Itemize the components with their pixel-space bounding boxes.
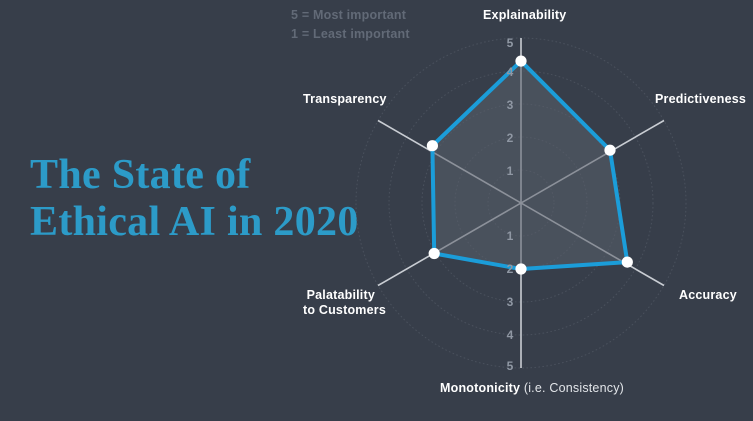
data-point-accuracy [622, 257, 633, 268]
axis-label-predictiveness: Predictiveness [655, 92, 746, 107]
data-point-palatability [429, 248, 440, 259]
tick-down-1: 1 [507, 229, 514, 243]
axis-label-transparency: Transparency [303, 92, 387, 107]
axis-label-monotonicity-main: Monotonicity [440, 381, 520, 395]
tick-down-5: 5 [507, 359, 514, 373]
tick-up-2: 2 [507, 131, 514, 145]
radar-chart-svg: 5 4 3 2 1 1 2 3 4 5 [0, 0, 753, 421]
radar-chart: 5 4 3 2 1 1 2 3 4 5 [0, 0, 753, 421]
tick-down-4: 4 [507, 328, 514, 342]
tick-up-3: 3 [507, 98, 514, 112]
tick-down-3: 3 [507, 295, 514, 309]
data-point-transparency [427, 140, 438, 151]
data-point-monotonicity [515, 263, 526, 274]
data-point-predictiveness [604, 145, 615, 156]
axis-label-accuracy: Accuracy [679, 288, 737, 303]
axis-label-palatability: Palatability to Customers [303, 288, 375, 318]
tick-up-5: 5 [507, 36, 514, 50]
slide-canvas: 5 = Most important 1 = Least important T… [0, 0, 753, 421]
tick-up-1: 1 [507, 164, 514, 178]
axis-label-monotonicity-sub: (i.e. Consistency) [520, 381, 624, 395]
axis-label-explainability: Explainability [483, 8, 566, 23]
data-point-explainability [515, 56, 526, 67]
tick-down-2: 2 [507, 262, 514, 276]
axis-label-palatability-line2: to Customers [303, 303, 375, 318]
tick-up-4: 4 [507, 65, 514, 79]
axis-label-palatability-line1: Palatability [303, 288, 375, 303]
axis-label-monotonicity: Monotonicity (i.e. Consistency) [440, 381, 624, 396]
radar-series-polygon [432, 61, 627, 269]
